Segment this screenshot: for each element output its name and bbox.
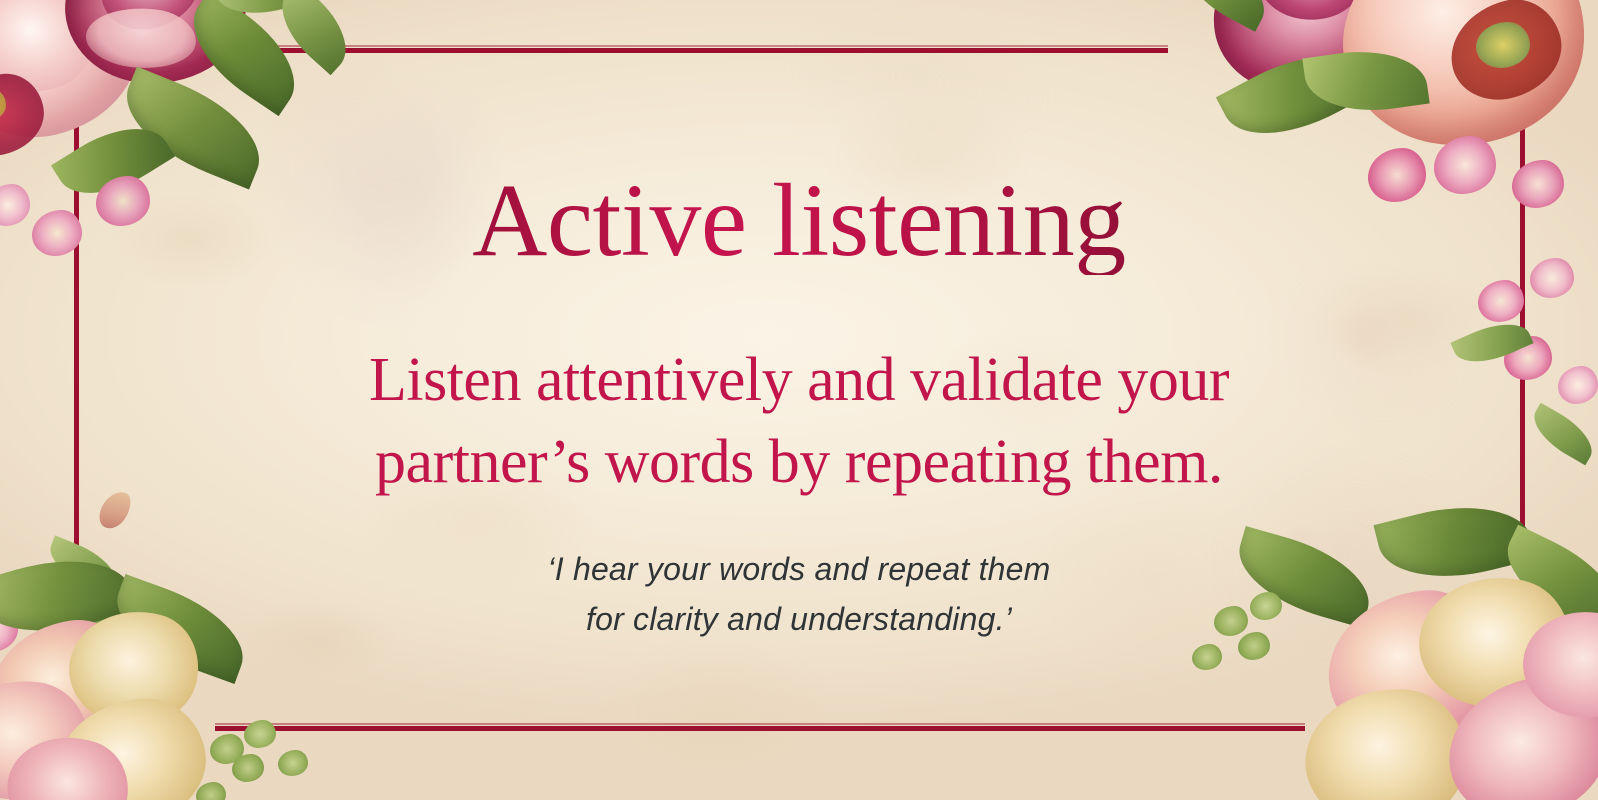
frame-top-hairline [248, 45, 1168, 47]
quote-text: ‘I hear your words and repeat them for c… [0, 545, 1598, 644]
quote-line-2: for clarity and understanding.’ [0, 595, 1598, 645]
subtitle: Listen attentively and validate your par… [0, 340, 1598, 504]
frame-bottom-line [215, 726, 1305, 731]
quote-card: Active listening Listen attentively and … [0, 0, 1598, 800]
subtitle-line-1: Listen attentively and validate your [0, 340, 1598, 422]
frame-top-line [248, 48, 1168, 53]
frame-bottom-hairline [215, 723, 1305, 725]
subtitle-line-2: partner’s words by repeating them. [0, 422, 1598, 504]
page-title: Active listening [0, 166, 1598, 275]
quote-line-1: ‘I hear your words and repeat them [0, 545, 1598, 595]
